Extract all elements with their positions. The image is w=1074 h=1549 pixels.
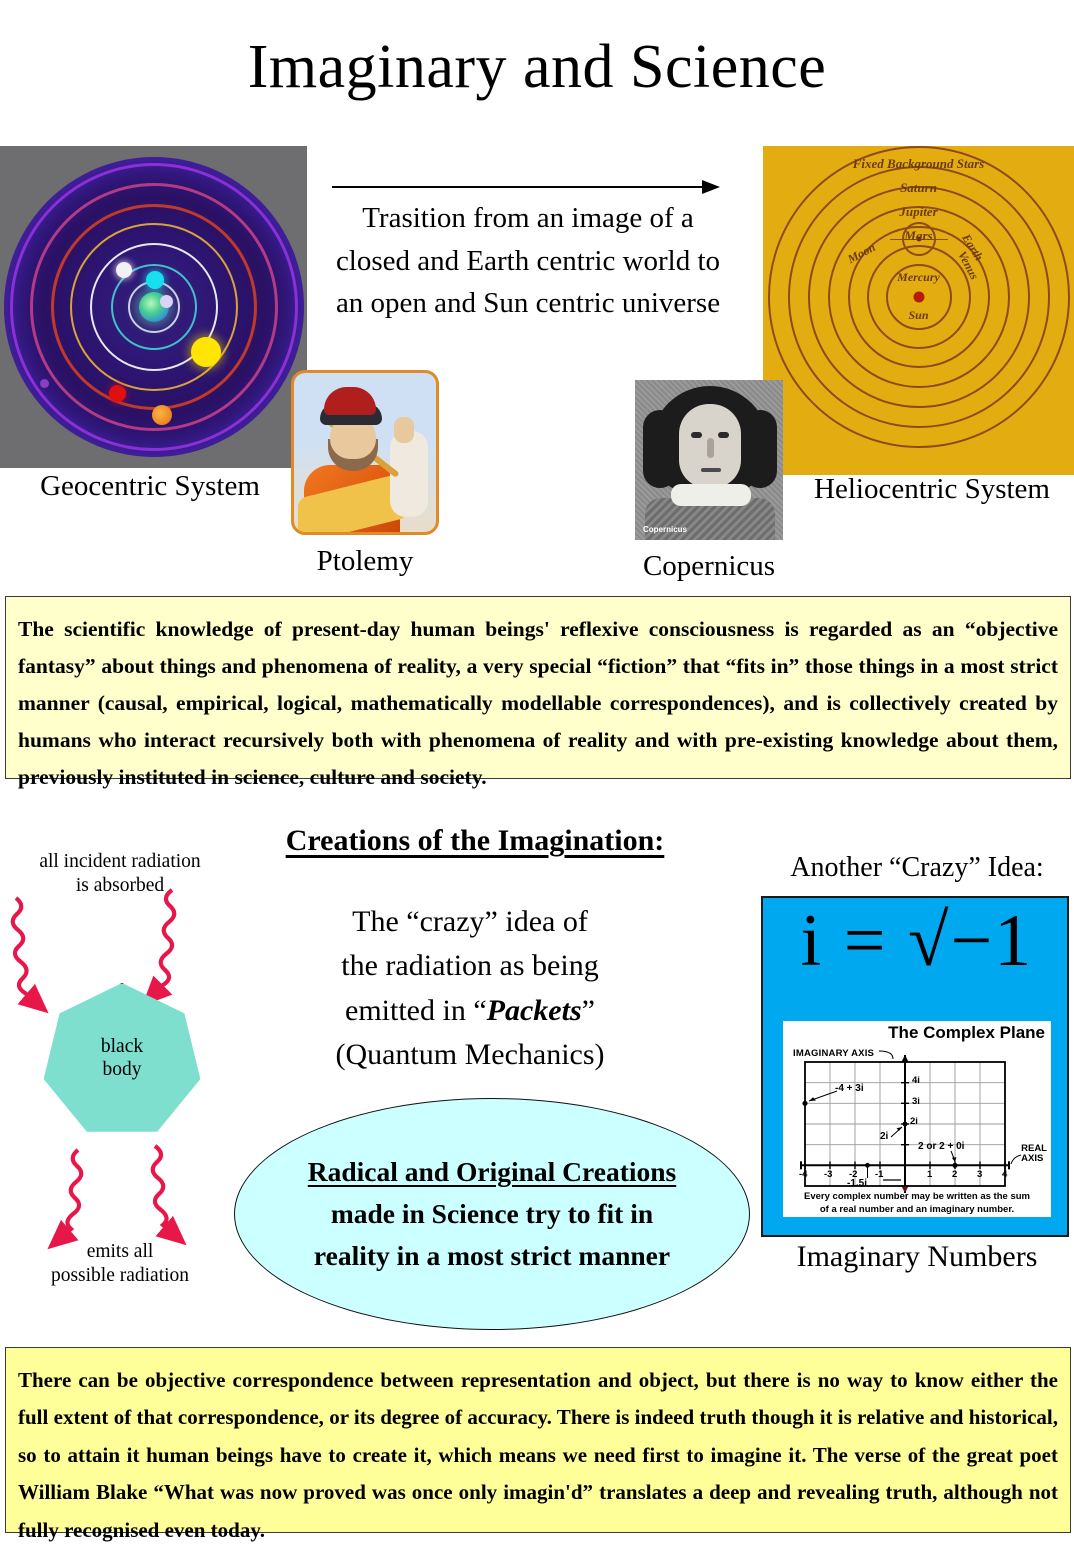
- copernicus-caption: Copernicus: [614, 550, 804, 583]
- copernicus-eye-left: [691, 432, 702, 438]
- complex-plane-ytick-3i: 3i: [912, 1096, 920, 1107]
- complex-plane-footer-line-2: of a real number and an imaginary number…: [783, 1204, 1051, 1217]
- complex-plane-xtick-2: 2: [952, 1169, 957, 1180]
- geocentric-planet-violet: [40, 379, 49, 388]
- copernicus-collar: [671, 484, 751, 506]
- geocentric-planet-lavender: [160, 295, 173, 308]
- black-body-polygon-label-line-1: black: [42, 1035, 202, 1058]
- heliocentric-label-jupiter: Jupiter: [899, 204, 937, 220]
- black-body-top-label-line-2: is absorbed: [0, 874, 240, 898]
- ptolemy-caption: Ptolemy: [270, 545, 460, 578]
- complex-plane-annotation-minus1p5i: -1.5i: [847, 1178, 867, 1189]
- incident-radiation-arrow-right: [151, 890, 174, 997]
- imaginary-unit-formula: i = √−1: [763, 904, 1071, 978]
- ptolemy-artwork: [294, 373, 436, 532]
- complex-plane-footer-line-1: Every complex number may be written as t…: [783, 1191, 1051, 1204]
- heliocentric-system-image: Fixed Background Stars Saturn Jupiter Ma…: [763, 146, 1074, 475]
- crazy-idea-line-4: (Quantum Mechanics): [210, 1033, 730, 1077]
- copernicus-mouth: [701, 468, 721, 472]
- heliocentric-label-stars: Fixed Background Stars: [853, 156, 984, 172]
- complex-plane-xtick--3: -3: [824, 1169, 832, 1180]
- geocentric-planet-orange: [152, 405, 172, 425]
- complex-plane-annotation-minus4plus3i: -4 + 3i: [835, 1083, 864, 1094]
- objective-correspondence-textbox: There can be objective correspondence be…: [5, 1347, 1071, 1533]
- another-crazy-idea-heading: Another “Crazy” Idea:: [760, 852, 1074, 884]
- complex-plane-figure: The Complex Plane IMAGINARY AXIS REAL AX…: [783, 1021, 1051, 1217]
- imaginary-numbers-caption: Imaginary Numbers: [760, 1240, 1074, 1274]
- black-body-top-label: all incident radiation is absorbed: [0, 850, 240, 898]
- black-body-top-label-line-1: all incident radiation: [0, 850, 240, 874]
- complex-plane-footer: Every complex number may be written as t…: [783, 1191, 1051, 1217]
- packets-emphasis: Packets: [487, 994, 582, 1027]
- black-body-bottom-label: emits all possible radiation: [0, 1240, 240, 1288]
- complex-plane-ytick-4i: 4i: [912, 1075, 920, 1086]
- crazy-idea-line-2: the radiation as being: [210, 944, 730, 988]
- page-title: Imaginary and Science: [0, 36, 1074, 98]
- black-body-polygon-label-line-2: body: [42, 1058, 202, 1081]
- radical-creations-line-1: Radical and Original Creations: [277, 1151, 707, 1193]
- heliocentric-caption: Heliocentric System: [790, 473, 1074, 506]
- copernicus-eye-right: [718, 432, 729, 438]
- complex-plane-annotation-2i: 2i: [880, 1131, 888, 1142]
- radical-creations-line-2: made in Science try to fit in: [331, 1198, 653, 1229]
- copernicus-portrait: Copernicus: [635, 380, 783, 540]
- complex-plane-annotation-2-or-2plus0i: 2 or 2 + 0i: [918, 1141, 964, 1152]
- complex-plane-xtick-3: 3: [977, 1169, 982, 1180]
- geocentric-caption: Geocentric System: [0, 470, 300, 503]
- ptolemy-portrait: [291, 370, 439, 535]
- emitted-radiation-arrow-right: [153, 1146, 177, 1237]
- geocentric-planet-yellow: [191, 337, 221, 367]
- incident-radiation-arrow-left: [13, 898, 39, 1005]
- copernicus-signature: Copernicus: [643, 525, 687, 534]
- black-body-diagram: all incident radiation is absorbed black…: [0, 850, 240, 1290]
- complex-plane-xtick--1: -1: [875, 1169, 883, 1180]
- arrow-shaft: [332, 186, 704, 188]
- heliocentric-label-mercury: Mercury: [897, 270, 940, 285]
- geocentric-planet-red: [109, 385, 126, 402]
- scientific-knowledge-text: The scientific knowledge of present-day …: [18, 611, 1058, 796]
- geocentric-planet-cyan: [146, 271, 164, 289]
- black-body-bottom-label-line-1: emits all: [0, 1240, 240, 1264]
- geocentric-system-image: [0, 146, 307, 468]
- complex-plane-ytick-2i: 2i: [910, 1116, 918, 1127]
- crazy-idea-line-1: The “crazy” idea of: [210, 900, 730, 944]
- arrow-head: [702, 180, 720, 194]
- ptolemy-hat: [324, 387, 376, 415]
- creations-heading: Creations of the Imagination:: [215, 824, 735, 858]
- scientific-knowledge-textbox: The scientific knowledge of present-day …: [5, 596, 1071, 779]
- radical-creations-text: Radical and Original Creations made in S…: [277, 1151, 707, 1276]
- emitted-radiation-arrow-left: [57, 1150, 81, 1241]
- crazy-idea-line-3-prefix: emitted in “: [345, 994, 487, 1027]
- heliocentric-label-mars: Mars: [904, 228, 932, 244]
- geocentric-disc: [4, 157, 304, 457]
- ptolemy-hand: [394, 417, 414, 443]
- right-arrow-icon: [332, 180, 720, 194]
- radical-creations-line-3: reality in a most strict manner: [314, 1240, 670, 1271]
- transition-text: Trasition from an image of a closed and …: [330, 197, 726, 325]
- geocentric-planet-white: [116, 262, 132, 278]
- complex-plane-xtick--4: -4: [799, 1169, 807, 1180]
- heliocentric-label-saturn: Saturn: [900, 180, 937, 196]
- objective-correspondence-text: There can be objective correspondence be…: [18, 1362, 1058, 1549]
- radical-creations-ellipse: Radical and Original Creations made in S…: [234, 1098, 750, 1330]
- crazy-idea-text: The “crazy” idea of the radiation as bei…: [210, 900, 730, 1078]
- complex-plane-xtick-4: 4: [1002, 1169, 1007, 1180]
- crazy-idea-line-3-suffix: ”: [582, 994, 595, 1027]
- copernicus-nose: [707, 438, 714, 458]
- black-body-polygon-label: black body: [42, 1035, 202, 1082]
- slide-canvas: Imaginary and Science Geocentric System …: [0, 0, 1074, 1539]
- crazy-idea-line-3: emitted in “Packets”: [210, 989, 730, 1033]
- heliocentric-sun-dot: [913, 292, 924, 303]
- heliocentric-label-sun: Sun: [908, 308, 928, 323]
- imaginary-number-panel: i = √−1 The Complex Plane IMAGINARY AXIS…: [761, 896, 1069, 1237]
- complex-plane-xtick-1: 1: [927, 1169, 932, 1180]
- black-body-bottom-label-line-2: possible radiation: [0, 1264, 240, 1288]
